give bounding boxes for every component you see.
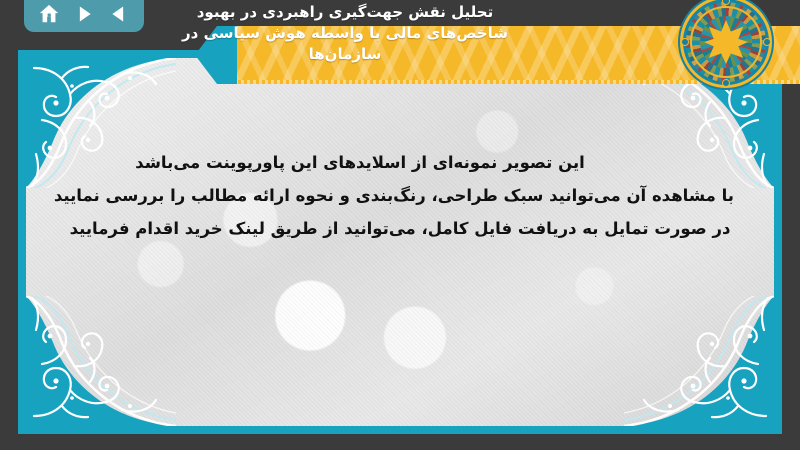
triangle-left-icon (109, 4, 129, 24)
body-line-2: با مشاهده آن می‌توانید سبک طراحی، رنگ‌بن… (66, 179, 734, 212)
persian-floral-corner-ornament-bottom-right (624, 296, 774, 426)
persian-floral-corner-ornament-bottom-left (26, 296, 176, 426)
slide-frame: این تصویر نمونه‌ای از اسلایدهای این پاور… (18, 50, 782, 434)
body-line-3: در صورت تمایل به دریافت فایل کامل، می‌تو… (66, 212, 734, 245)
bottom-strip (0, 434, 800, 450)
home-button[interactable] (36, 2, 62, 26)
body-line-1: این تصویر نمونه‌ای از اسلایدهای این پاور… (66, 146, 734, 179)
slide-body-text: این تصویر نمونه‌ای از اسلایدهای این پاور… (66, 146, 734, 245)
medallion-dot-south (722, 79, 730, 87)
medallion-dot-west (681, 38, 689, 46)
medallion-dot-east (763, 38, 771, 46)
triangle-right-icon (74, 4, 94, 24)
persian-medallion-icon (680, 0, 772, 88)
home-icon (38, 3, 60, 25)
slide-navigation-bar (24, 0, 144, 32)
slide-content-area: این تصویر نمونه‌ای از اسلایدهای این پاور… (26, 58, 774, 426)
band-arrow-accent (195, 26, 237, 84)
next-slide-button[interactable] (71, 2, 97, 26)
prev-slide-button[interactable] (106, 2, 132, 26)
slide-preview-stage: تحلیل نقش جهت‌گیری راهبردی در بهبود شاخص… (0, 0, 800, 450)
